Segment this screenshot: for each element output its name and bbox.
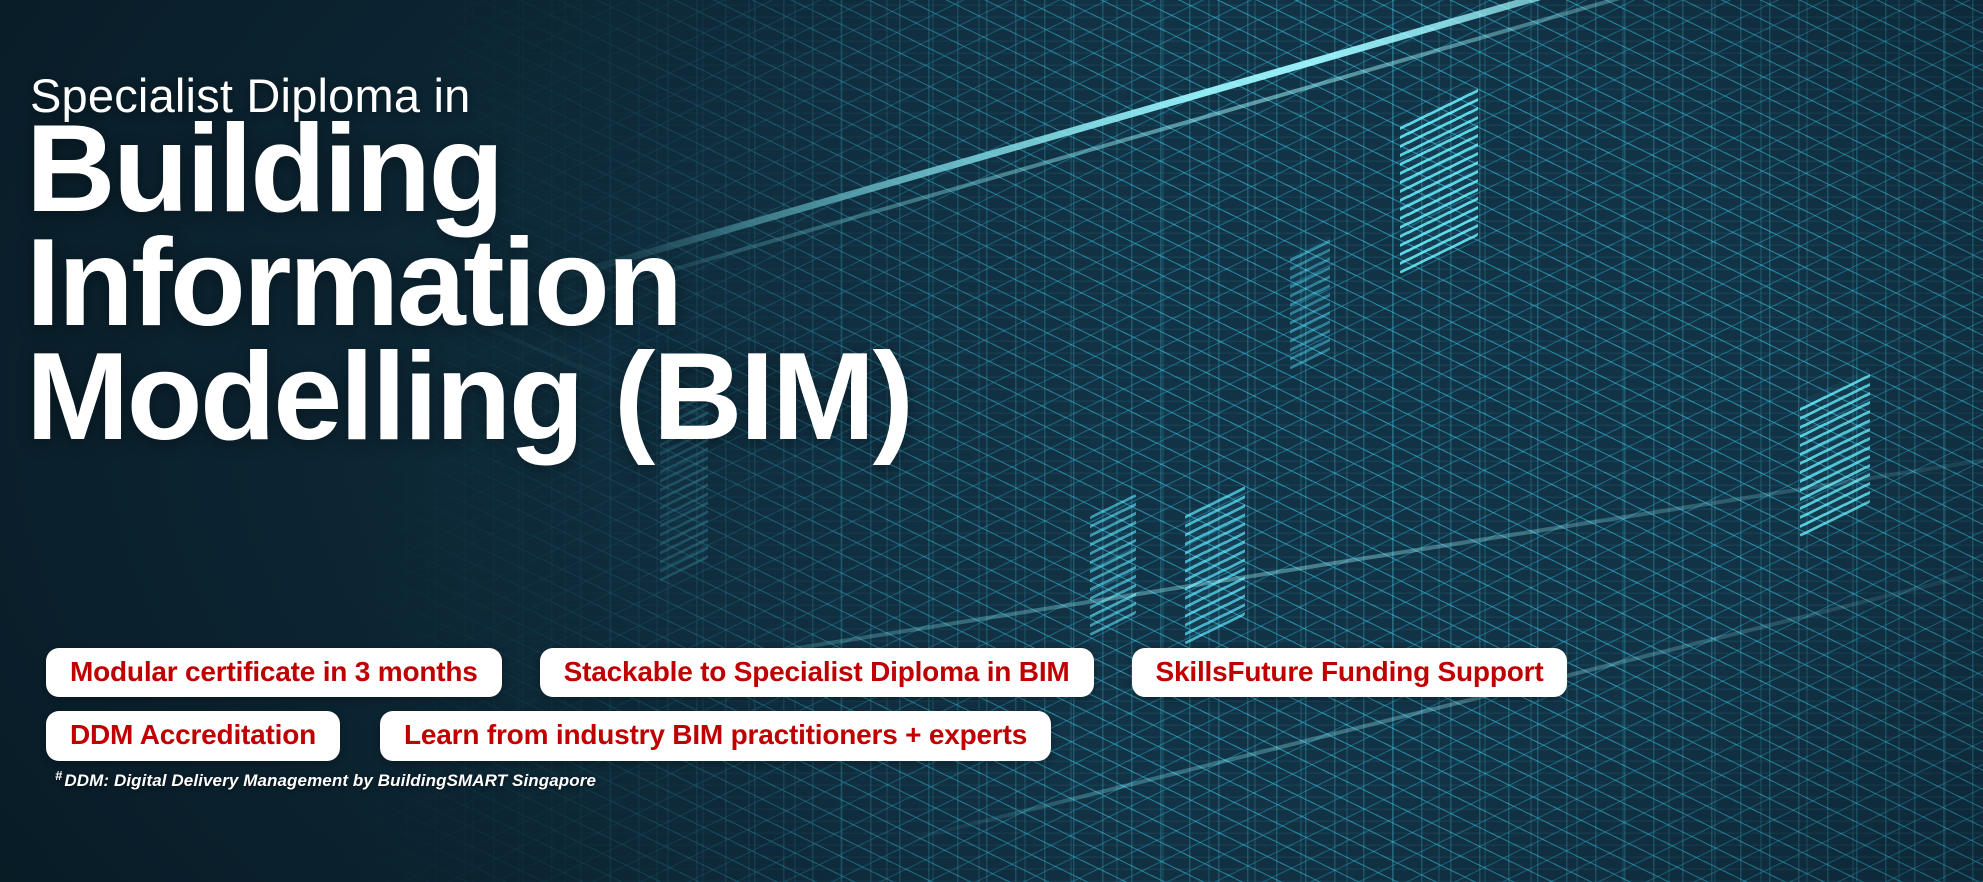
headline-line-1: Building [26, 112, 911, 226]
badge-ddm-accreditation[interactable]: DDM Accreditation [46, 711, 340, 760]
feature-badge-group: Modular certificate in 3 months Stackabl… [46, 648, 1976, 775]
headline-line-3: Modelling (BIM) [26, 340, 911, 454]
headline-line-2: Information [26, 226, 911, 340]
footnote: #DDM: Digital Delivery Management by Bui… [55, 768, 596, 791]
hero-banner: Specialist Diploma in Building Informati… [0, 0, 1983, 882]
badge-stackable-diploma[interactable]: Stackable to Specialist Diploma in BIM [540, 648, 1094, 697]
badge-industry-practitioners[interactable]: Learn from industry BIM practitioners + … [380, 711, 1051, 760]
footnote-marker: # [55, 768, 62, 783]
badge-skillsfuture-funding[interactable]: SkillsFuture Funding Support [1132, 648, 1568, 697]
badge-modular-certificate[interactable]: Modular certificate in 3 months [46, 648, 502, 697]
badge-row-2: DDM Accreditation Learn from industry BI… [46, 711, 1976, 760]
badge-row-1: Modular certificate in 3 months Stackabl… [46, 648, 1976, 697]
banner-content: Specialist Diploma in Building Informati… [0, 0, 1983, 882]
footnote-text: DDM: Digital Delivery Management by Buil… [64, 771, 596, 790]
page-title: Building Information Modelling (BIM) [26, 112, 911, 454]
